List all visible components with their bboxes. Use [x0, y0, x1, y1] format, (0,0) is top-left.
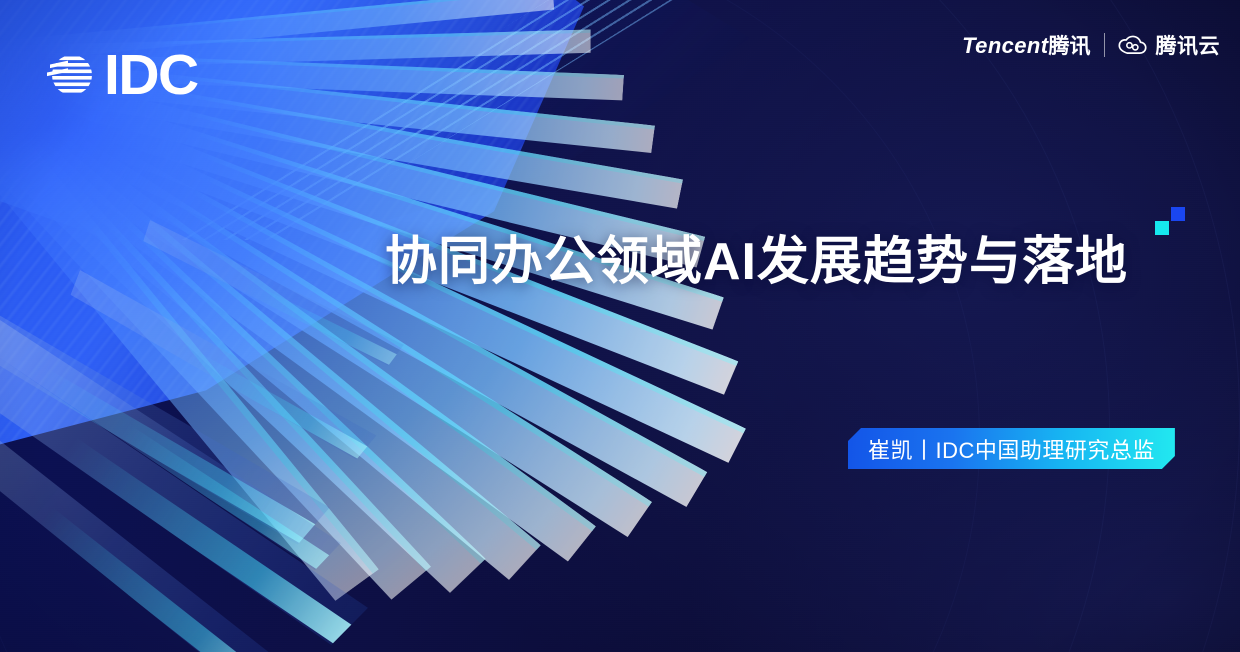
lockup-divider [1104, 33, 1105, 57]
speaker-badge: 崔凯丨IDC中国助理研究总监 [848, 428, 1175, 469]
square-cyan-icon [1155, 221, 1169, 235]
idc-logo: IDC [44, 48, 198, 102]
presentation-slide: IDC Tencent腾讯 腾讯云 协同办公领域AI发展趋势与落地 崔凯丨IDC… [0, 0, 1240, 652]
tencent-brand-latin: Tencent [962, 33, 1048, 58]
tencent-brand: Tencent腾讯 [962, 30, 1090, 60]
tencent-cloud-lockup: 腾讯云 [1118, 30, 1221, 60]
tencent-brand-cn: 腾讯 [1049, 35, 1091, 58]
speaker-badge-label: 崔凯丨IDC中国助理研究总监 [868, 433, 1155, 465]
square-blue-icon [1171, 207, 1185, 221]
tencent-cloud-label: 腾讯云 [1156, 30, 1221, 60]
tencent-cloud-icon [1118, 34, 1148, 56]
striped-globe-icon [44, 48, 98, 102]
idc-wordmark: IDC [104, 48, 198, 102]
background-blades [0, 250, 640, 652]
title-decoration-squares [1155, 207, 1185, 239]
slide-title: 协同办公领域AI发展趋势与落地 [385, 219, 1128, 294]
tencent-lockup: Tencent腾讯 腾讯云 [962, 30, 1220, 60]
